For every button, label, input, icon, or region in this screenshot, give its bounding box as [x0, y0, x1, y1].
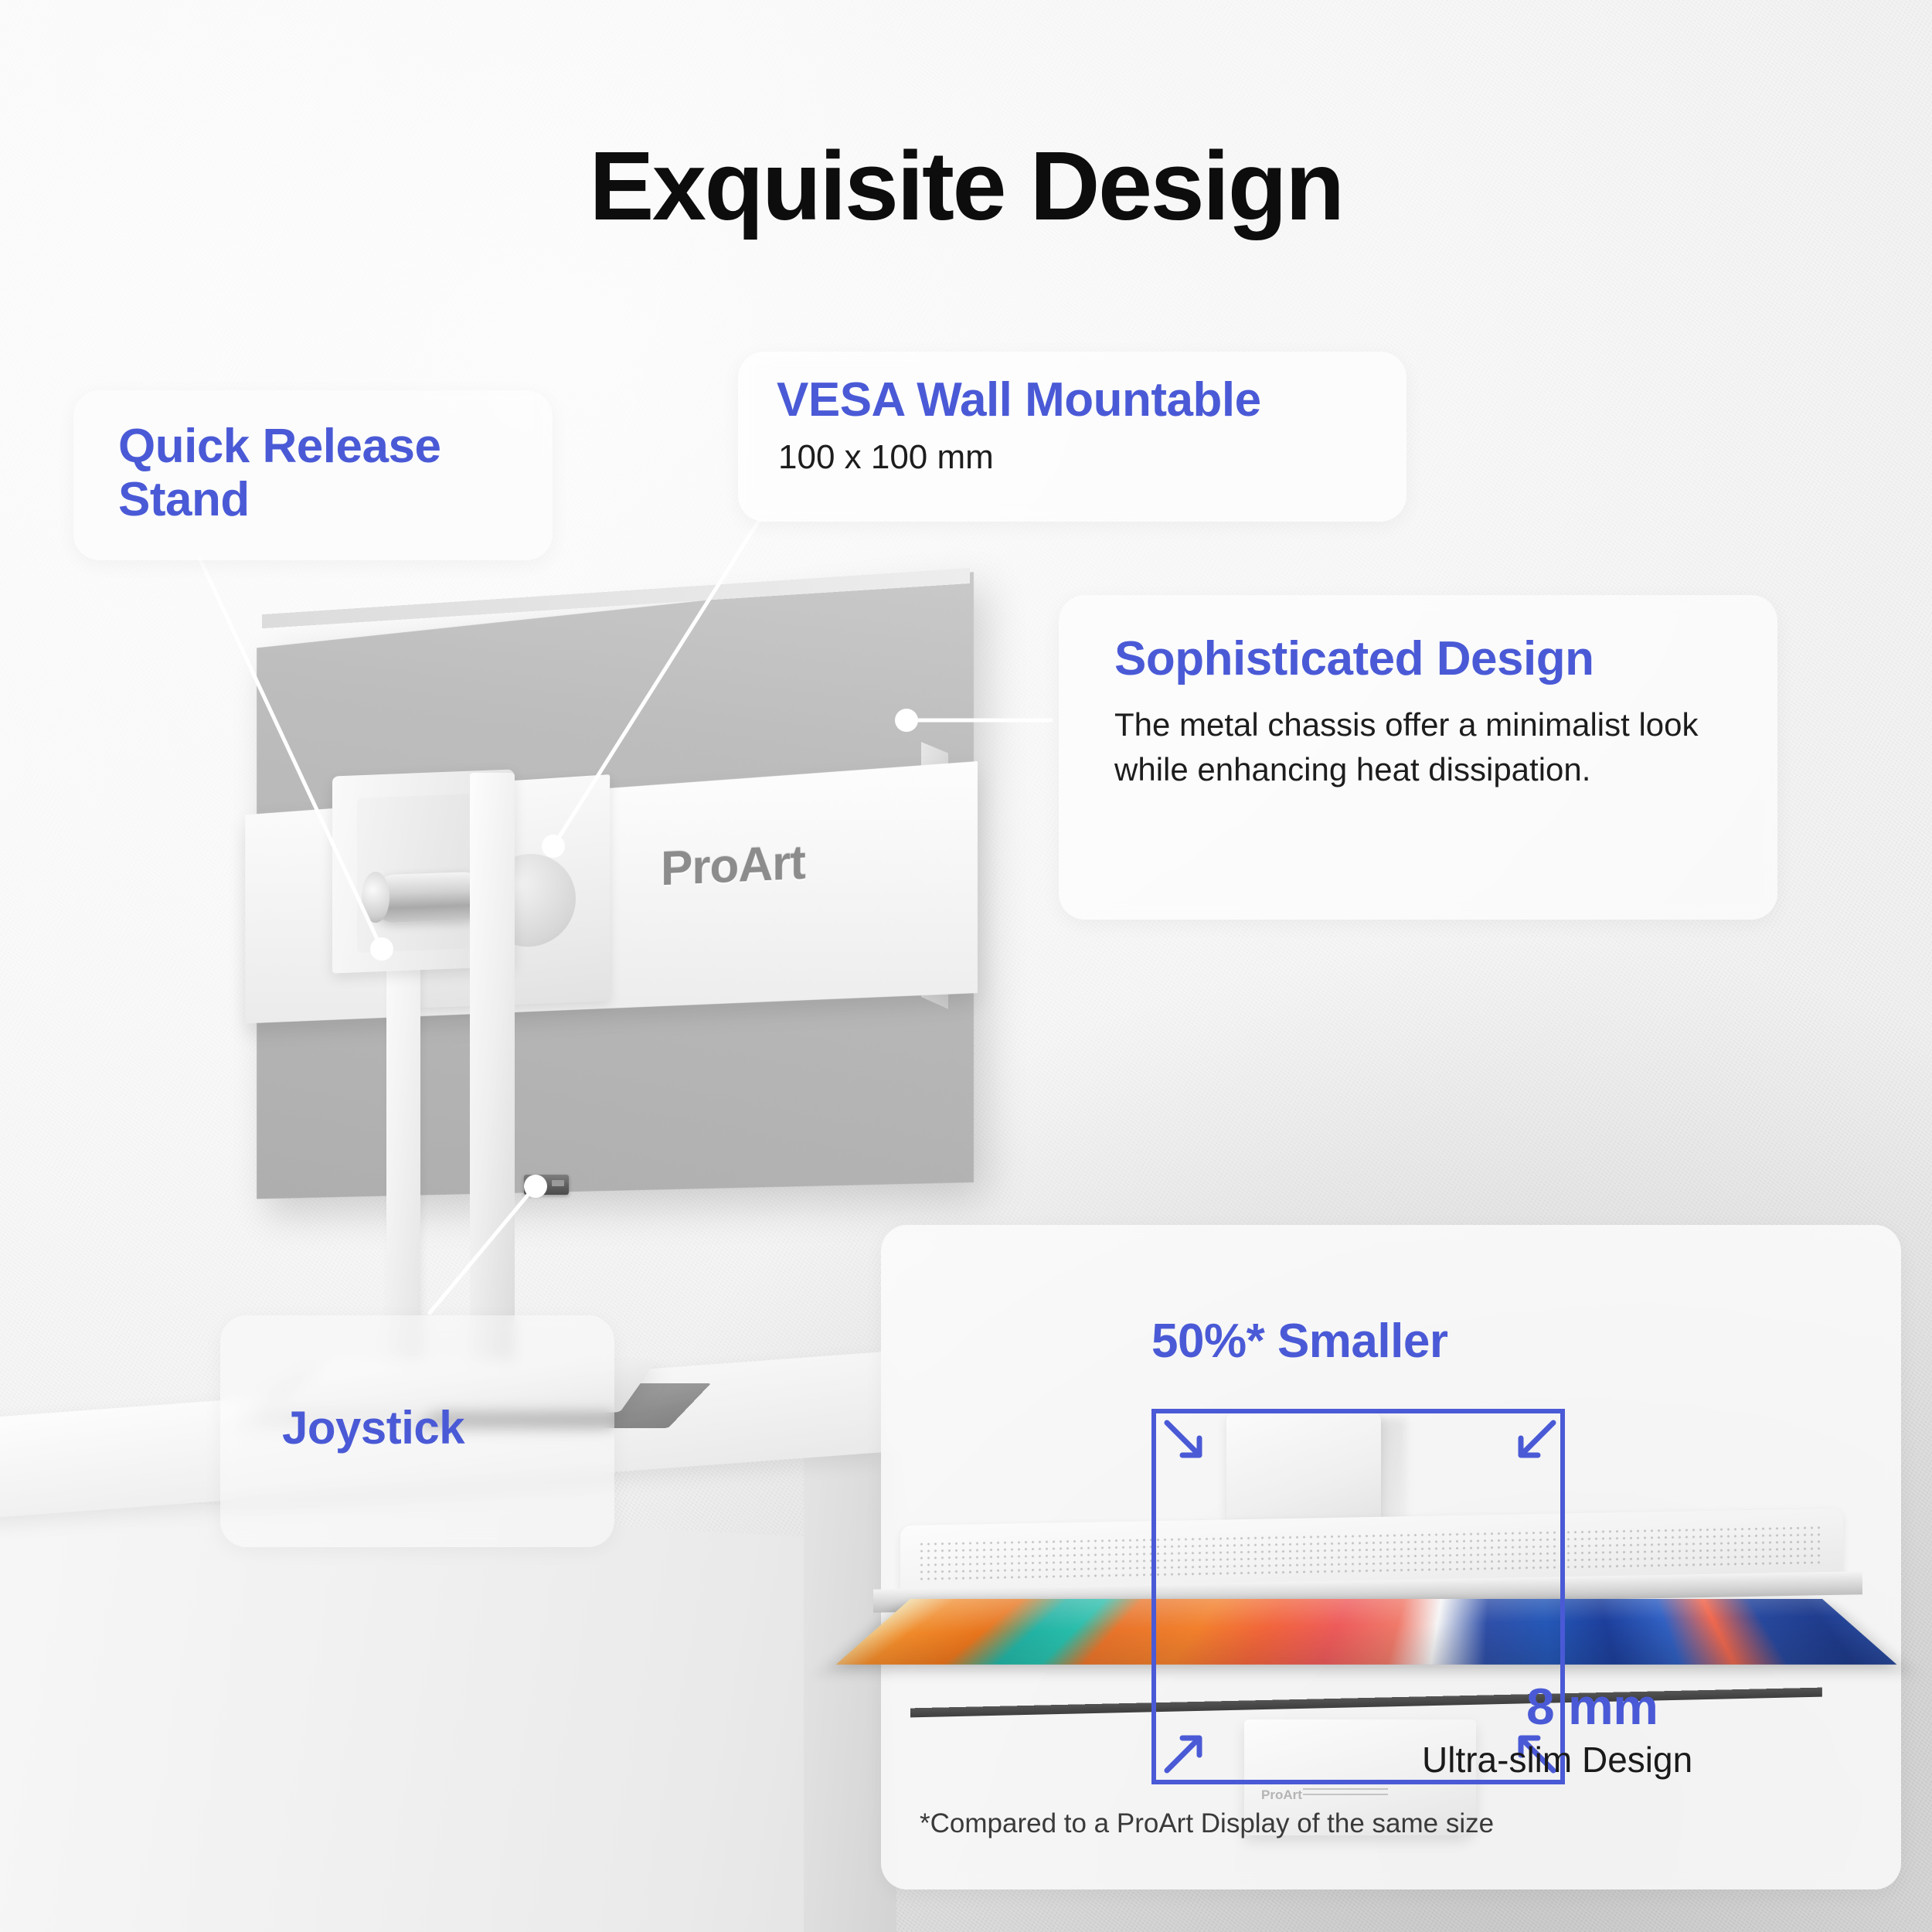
- callout-quick-release-stand: Quick Release Stand: [73, 390, 553, 560]
- callout-joystick-title: Joystick: [220, 1315, 614, 1454]
- thickness-value-label: 8 mm: [1526, 1677, 1658, 1736]
- joystick-control[interactable]: [524, 1175, 569, 1195]
- flat-screen-bottom-edge: [910, 1688, 1822, 1718]
- callout-vesa-subtitle: 100 x 100 mm: [738, 427, 1406, 481]
- flat-screen-sheen: [836, 1599, 1897, 1665]
- quick-release-pin-cap: [362, 872, 389, 923]
- stand-column-right: [470, 773, 515, 1406]
- smaller-percentage-label: 50%* Smaller: [1151, 1314, 1447, 1369]
- bracket-arrow-top-left: [1164, 1420, 1212, 1468]
- callout-sophisticated-design: Sophisticated Design The metal chassis o…: [1059, 595, 1777, 920]
- page-title: Exquisite Design: [0, 130, 1932, 242]
- bracket-arrow-top-right: [1509, 1420, 1556, 1468]
- proart-base-logo: ProArt: [1261, 1787, 1302, 1803]
- pedestal-front-face: [0, 1492, 881, 1932]
- thickness-caption-label: Ultra-slim Design: [1422, 1739, 1692, 1781]
- bracket-top-edge: [1151, 1409, 1565, 1413]
- callout-quick-release-title: Quick Release Stand: [73, 390, 553, 527]
- base-spec-text-lines: [1303, 1786, 1388, 1801]
- callout-vesa-title: VESA Wall Mountable: [738, 352, 1406, 427]
- callout-sophisticated-title: Sophisticated Design: [1059, 595, 1777, 685]
- bracket-left-edge: [1151, 1409, 1156, 1784]
- bracket-arrow-bottom-left: [1164, 1726, 1212, 1774]
- callout-joystick: Joystick: [220, 1315, 614, 1547]
- proart-logo-embossed: ProArt: [661, 835, 805, 896]
- callout-sophisticated-body: The metal chassis offer a minimalist loo…: [1059, 685, 1777, 792]
- callout-vesa: VESA Wall Mountable 100 x 100 mm: [738, 352, 1406, 522]
- footnote-text: *Compared to a ProArt Display of the sam…: [920, 1808, 1494, 1839]
- flat-stand-head: [1226, 1413, 1381, 1532]
